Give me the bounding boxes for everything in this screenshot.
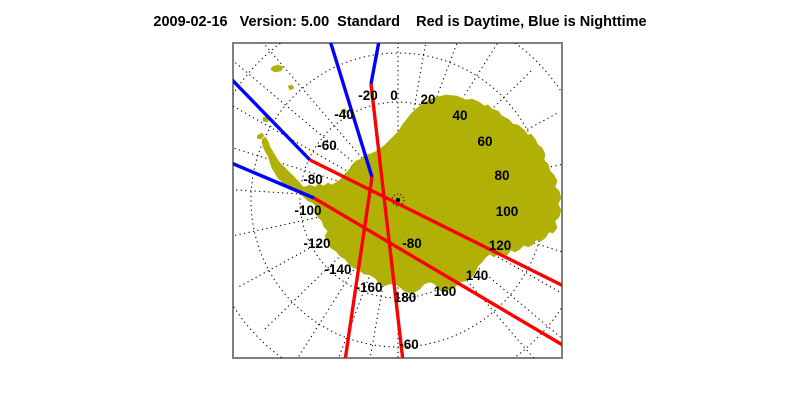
figure-canvas: 2009-02-16 Version: 5.00 Standard Red is… xyxy=(0,0,800,400)
lon-label-m40: -40 xyxy=(334,107,354,122)
lon-label-m160: -160 xyxy=(355,280,382,295)
lon-label-40: 40 xyxy=(452,108,467,123)
lon-label-160: 160 xyxy=(434,284,457,299)
figure-title: 2009-02-16 Version: 5.00 Standard Red is… xyxy=(0,14,800,30)
lon-label-120: 120 xyxy=(489,238,512,253)
lon-label-140: 140 xyxy=(466,268,489,283)
lon-label-60: 60 xyxy=(477,134,492,149)
antarctica-polar-map: 0 20 40 60 80 100 120 140 160 180 -160 -… xyxy=(232,42,563,359)
lon-label-0: 0 xyxy=(390,88,398,103)
lon-label-80: 80 xyxy=(494,168,509,183)
lon-label-m140: -140 xyxy=(324,262,351,277)
lon-label-m60: -60 xyxy=(317,138,337,153)
lon-label-m80: -80 xyxy=(303,172,323,187)
lon-label-100: 100 xyxy=(496,204,519,219)
lon-label-180: 180 xyxy=(394,290,417,305)
lat-label-m80: -80 xyxy=(402,236,422,251)
lat-label-m60: -60 xyxy=(399,337,419,352)
lon-label-m20: -20 xyxy=(358,88,378,103)
lon-label-m120: -120 xyxy=(303,236,330,251)
lon-label-20: 20 xyxy=(420,92,435,107)
lon-label-m100: -100 xyxy=(294,203,321,218)
